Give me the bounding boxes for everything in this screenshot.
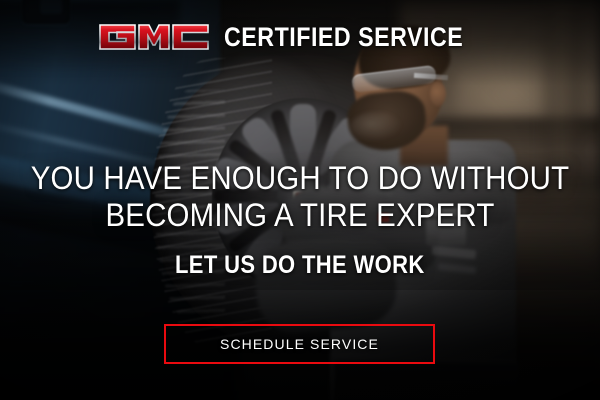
- headline-line-1: YOU HAVE ENOUGH TO DO WITHOUT: [24, 160, 576, 197]
- brand-lockup: CERTIFIED SERVICE: [0, 22, 600, 52]
- schedule-service-label: SCHEDULE SERVICE: [220, 337, 379, 351]
- gmc-certified-service-banner: CERTIFIED SERVICE YOU HAVE ENOUGH TO DO …: [0, 0, 600, 400]
- gmc-logo-icon: [98, 22, 210, 52]
- banner-content: CERTIFIED SERVICE YOU HAVE ENOUGH TO DO …: [0, 0, 600, 400]
- headline-line-2: BECOMING A TIRE EXPERT: [24, 197, 576, 234]
- headline: YOU HAVE ENOUGH TO DO WITHOUT BECOMING A…: [0, 160, 600, 234]
- subheadline: LET US DO THE WORK: [0, 253, 600, 278]
- certified-service-title: CERTIFIED SERVICE: [224, 24, 463, 51]
- schedule-service-button[interactable]: SCHEDULE SERVICE: [164, 324, 435, 364]
- subheadline-text: LET US DO THE WORK: [175, 253, 425, 278]
